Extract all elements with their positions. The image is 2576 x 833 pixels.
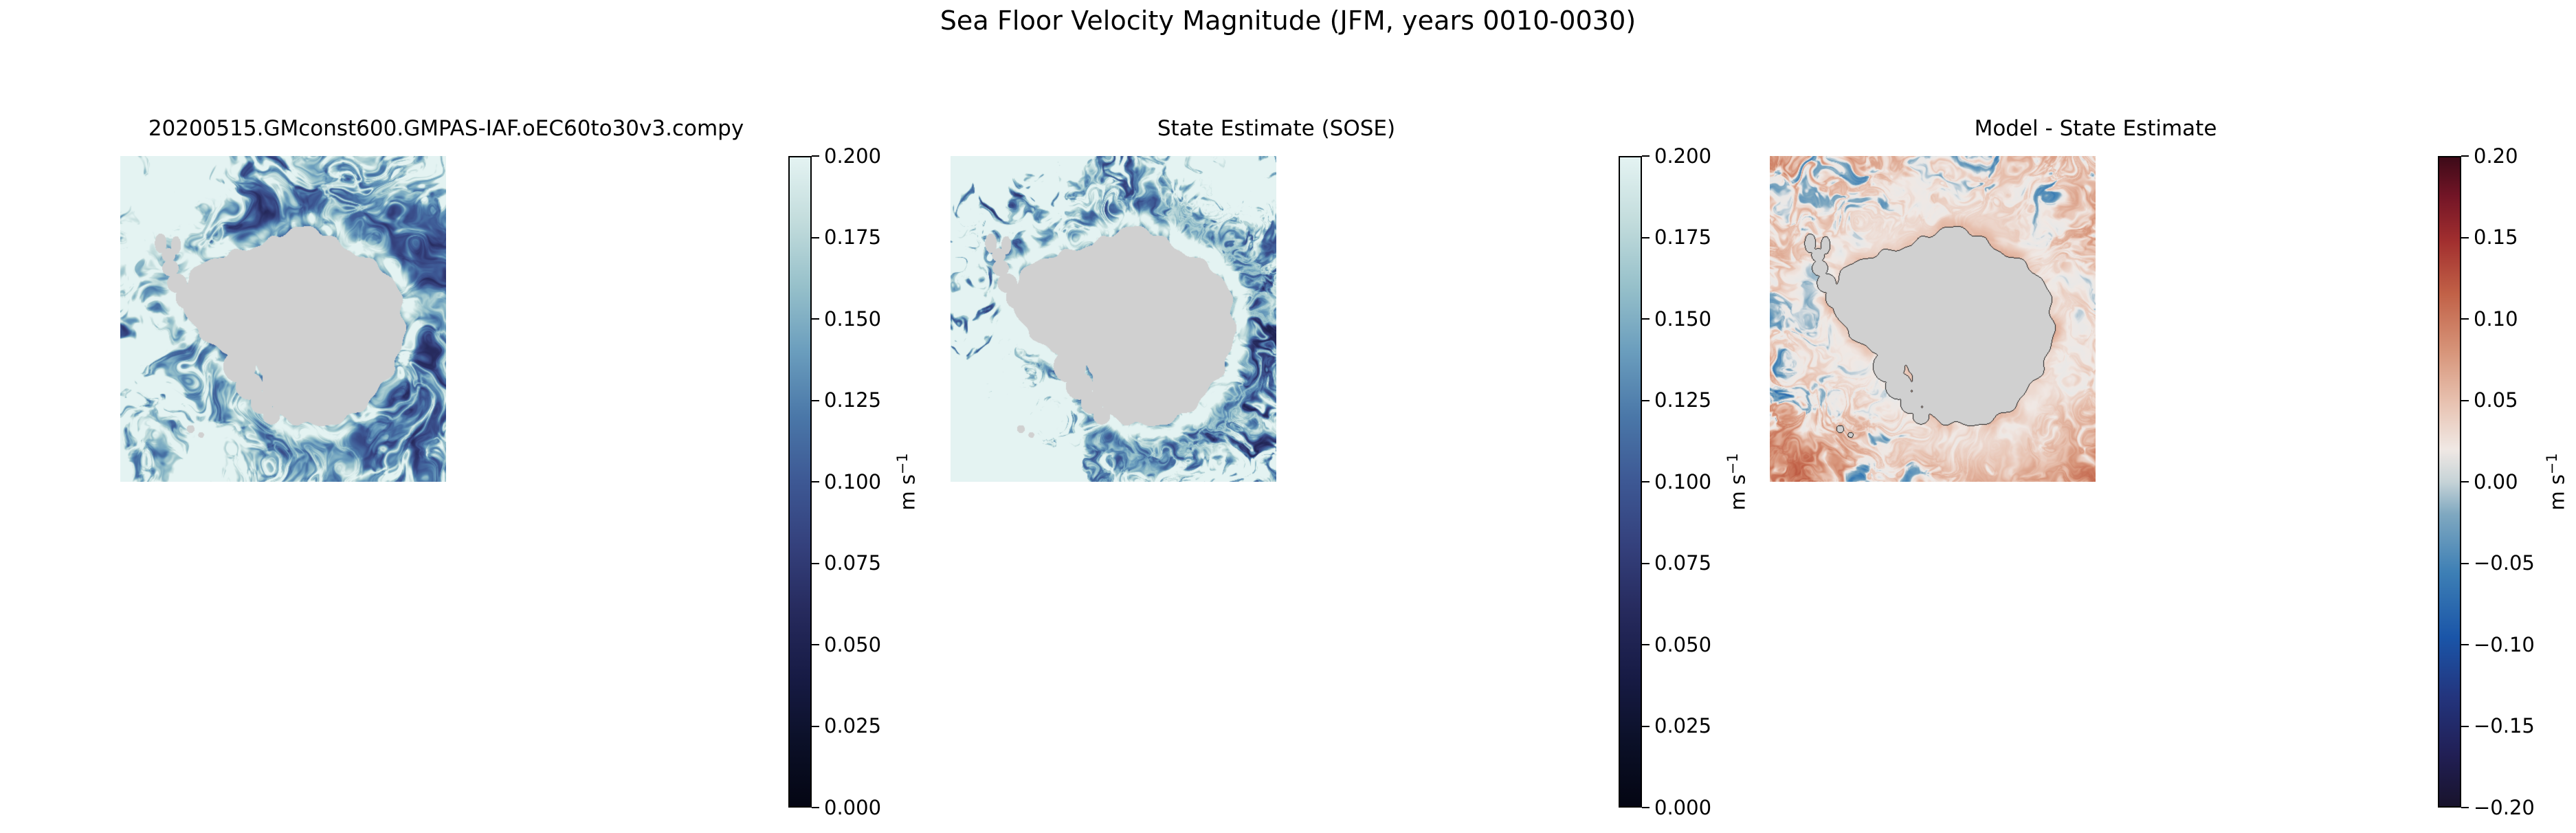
tick-mark (2461, 400, 2469, 401)
colorbar-model-unit: m s−1 (896, 453, 920, 510)
tick-mark (812, 481, 819, 482)
tick-label: 0.000 (824, 798, 881, 818)
tick-mark (1642, 807, 1650, 808)
map-raster-difference (1770, 156, 2096, 482)
tick-mark (2461, 237, 2469, 238)
map-raster-model (120, 156, 446, 482)
colorbar-model-gradient (788, 156, 812, 808)
tick-label: 0.100 (824, 472, 881, 492)
colorbar-sose-unit: m s−1 (1726, 453, 1750, 510)
tick-label: 0.200 (1654, 146, 1711, 166)
tick-label: 0.10 (2474, 309, 2518, 329)
tick-mark (812, 563, 819, 564)
tick-mark (2461, 481, 2469, 482)
colorbar-difference-gradient (2438, 156, 2461, 808)
colorbar-difference[interactable]: −0.20−0.15−0.10−0.050.000.050.100.150.20… (2438, 156, 2544, 808)
tick-label: 0.150 (1654, 309, 1711, 329)
tick-label: 0.075 (1654, 553, 1711, 573)
colorbar-model-ticks: 0.0000.0250.0500.0750.1000.1250.1500.175… (812, 156, 894, 808)
tick-label: 0.025 (824, 716, 881, 736)
colorbar-sose-gradient (1619, 156, 1642, 808)
panel-model[interactable]: 20200515.GMconst600.GMPAS-IAF.oEC60to30v… (120, 156, 772, 808)
tick-label: 0.125 (1654, 390, 1711, 410)
tick-mark (812, 400, 819, 401)
tick-label: 0.075 (824, 553, 881, 573)
tick-mark (2461, 563, 2469, 564)
tick-mark (812, 155, 819, 157)
tick-mark (2461, 726, 2469, 727)
tick-mark (2461, 155, 2469, 157)
colorbar-difference-unit: m s−1 (2546, 453, 2569, 510)
tick-label: 0.00 (2474, 472, 2518, 492)
figure-canvas: Sea Floor Velocity Magnitude (JFM, years… (0, 0, 2576, 833)
figure-suptitle: Sea Floor Velocity Magnitude (JFM, years… (0, 5, 2576, 36)
tick-label: −0.15 (2474, 716, 2535, 736)
panel-difference[interactable]: Model - State Estimate (1770, 156, 2421, 808)
tick-mark (1642, 400, 1650, 401)
panel-sose-map[interactable] (951, 156, 1602, 808)
tick-label: 0.175 (1654, 227, 1711, 247)
panel-model-map[interactable] (120, 156, 772, 808)
tick-mark (1642, 563, 1650, 564)
colorbar-model[interactable]: 0.0000.0250.0500.0750.1000.1250.1500.175… (788, 156, 894, 808)
tick-mark (812, 644, 819, 645)
tick-label: 0.050 (1654, 635, 1711, 655)
panel-sose[interactable]: State Estimate (SOSE) (951, 156, 1602, 808)
tick-label: 0.05 (2474, 390, 2518, 410)
panel-model-title: 20200515.GMconst600.GMPAS-IAF.oEC60to30v… (148, 116, 744, 141)
colorbar-sose-ticks: 0.0000.0250.0500.0750.1000.1250.1500.175… (1642, 156, 1724, 808)
tick-label: 0.050 (824, 635, 881, 655)
tick-label: 0.175 (824, 227, 881, 247)
tick-mark (812, 318, 819, 320)
tick-label: 0.20 (2474, 146, 2518, 166)
tick-label: 0.100 (1654, 472, 1711, 492)
tick-mark (812, 237, 819, 238)
colorbar-difference-ticks: −0.20−0.15−0.10−0.050.000.050.100.150.20 (2461, 156, 2544, 808)
tick-mark (812, 726, 819, 727)
panel-difference-title: Model - State Estimate (1975, 116, 2217, 141)
tick-label: 0.150 (824, 309, 881, 329)
tick-mark (2461, 318, 2469, 320)
tick-mark (1642, 644, 1650, 645)
panel-difference-map[interactable] (1770, 156, 2421, 808)
tick-label: 0.200 (824, 146, 881, 166)
tick-mark (1642, 237, 1650, 238)
tick-label: 0.15 (2474, 227, 2518, 247)
tick-mark (812, 807, 819, 808)
tick-label: 0.125 (824, 390, 881, 410)
tick-mark (1642, 318, 1650, 320)
tick-label: 0.025 (1654, 716, 1711, 736)
map-raster-sose (951, 156, 1276, 482)
tick-label: −0.20 (2474, 798, 2535, 818)
tick-mark (1642, 155, 1650, 157)
tick-mark (2461, 644, 2469, 645)
colorbar-sose[interactable]: 0.0000.0250.0500.0750.1000.1250.1500.175… (1619, 156, 1724, 808)
tick-mark (1642, 726, 1650, 727)
tick-mark (2461, 807, 2469, 808)
tick-label: −0.10 (2474, 635, 2535, 655)
tick-label: 0.000 (1654, 798, 1711, 818)
panel-sose-title: State Estimate (SOSE) (1157, 116, 1395, 141)
tick-mark (1642, 481, 1650, 482)
tick-label: −0.05 (2474, 553, 2535, 573)
